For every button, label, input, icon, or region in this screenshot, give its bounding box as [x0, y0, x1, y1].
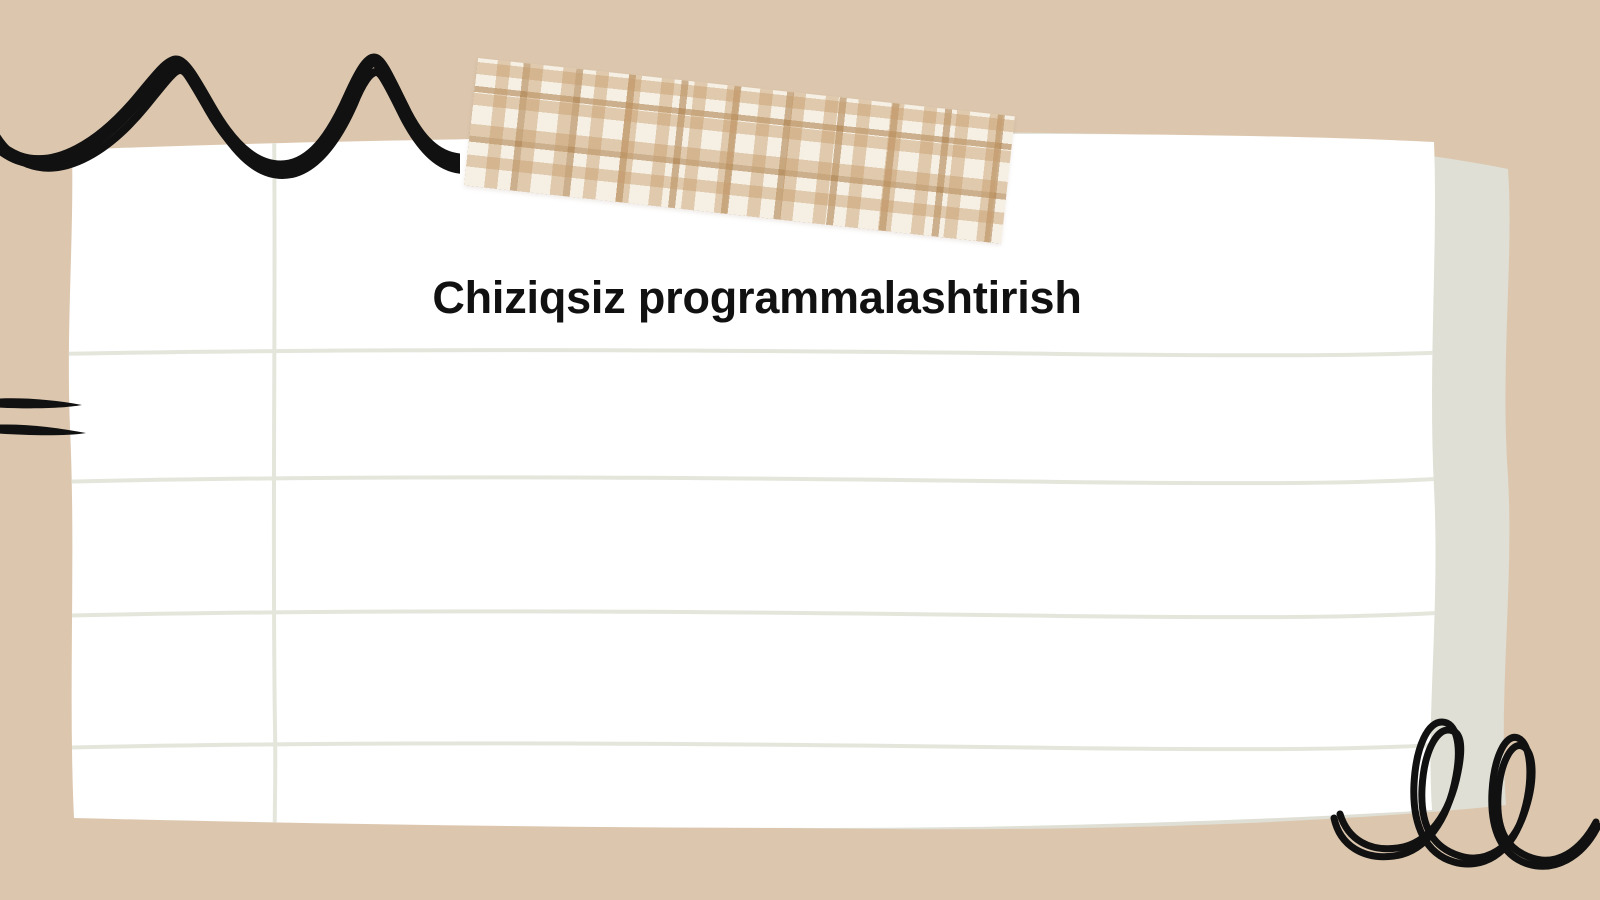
margin-line	[274, 128, 275, 838]
rule-line-1	[62, 350, 1442, 355]
rule-line-3	[62, 611, 1442, 617]
rule-line-4	[62, 743, 1442, 749]
notebook-rule-lines	[62, 128, 1442, 838]
rule-line-2	[62, 477, 1442, 483]
washi-tape	[464, 58, 1015, 244]
paper-sheet	[62, 128, 1442, 838]
wave-doodle-top-left	[0, 40, 460, 230]
slide-canvas: Chiziqsiz programmalashtirish	[0, 0, 1600, 900]
title-block: Chiziqsiz programmalashtirish	[72, 272, 1442, 324]
equals-doodle-left	[0, 385, 100, 455]
loops-doodle-bottom-right	[1330, 700, 1600, 900]
page-title: Chiziqsiz programmalashtirish	[432, 272, 1081, 324]
